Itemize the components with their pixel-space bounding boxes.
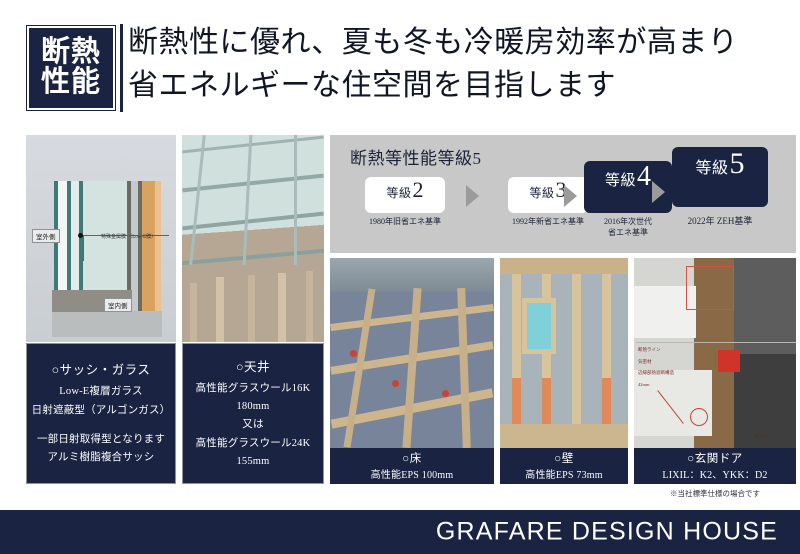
grade-box-5: 等級 5 bbox=[672, 147, 768, 207]
floor-caption-line-1: 高性能EPS 100mm bbox=[371, 468, 454, 483]
wall-caption-title: ○壁 bbox=[554, 450, 573, 466]
ceiling-caption-title: ○天井 bbox=[236, 356, 270, 375]
ceiling-caption: ○天井 高性能グラスウール16K 180mm 又は 高性能グラスウール24K 1… bbox=[182, 343, 324, 484]
ceiling-caption-line-1: 高性能グラスウール16K bbox=[196, 380, 311, 398]
wall-insulation-photo bbox=[500, 258, 628, 448]
entrance-door-detail: 断熱ライン 気密材 辺縁部熱遮断構造 42mm 断熱材 bbox=[634, 258, 796, 448]
grade-note-2: 1980年旧省エネ基準 bbox=[348, 217, 462, 228]
window-caption-title: ○サッシ・ガラス bbox=[52, 359, 151, 378]
grade-note-5: 2022年 ZEH基準 bbox=[620, 215, 800, 227]
door-annotation-2: 気密材 bbox=[638, 356, 674, 368]
door-annotation-4: 42mm bbox=[638, 379, 674, 391]
window-label-lowe-film: 特殊金属膜 （Low-E膜） bbox=[101, 235, 169, 241]
window-caption-line-2: 日射遮蔽型（アルゴンガス） bbox=[32, 402, 171, 420]
door-caption: ○玄関ドア LIXIL：K2、YKK：D2 bbox=[634, 448, 796, 484]
ceiling-caption-line-3: 又は bbox=[242, 416, 263, 434]
ceiling-insulation-photo bbox=[182, 135, 324, 342]
section-badge-line1: 断熱 bbox=[41, 38, 101, 68]
section-badge-line2: 性能 bbox=[41, 68, 101, 98]
disclaimer-note: ※当社標準仕様の場合です bbox=[634, 488, 796, 499]
ceiling-caption-line-2: 180mm bbox=[236, 398, 269, 416]
floor-insulation-photo bbox=[330, 258, 494, 448]
brand-name: GRAFARE DESIGN HOUSE bbox=[436, 518, 778, 547]
headline-line-1: 断熱性に優れ、夏も冬も冷暖房効率が高まり bbox=[128, 22, 788, 65]
headline-rule bbox=[120, 24, 123, 112]
window-caption: ○サッシ・ガラス Low-E複層ガラス 日射遮蔽型（アルゴンガス） 一部日射取得… bbox=[26, 343, 176, 484]
content-grid: 室外側 室内側 特殊金属膜 （Low-E膜） ○サッシ・ガラス Low-E複層ガ… bbox=[0, 132, 800, 508]
headline-line-2: 省エネルギーな住空間を目指します bbox=[128, 65, 788, 108]
floor-caption-title: ○床 bbox=[402, 450, 421, 466]
door-annotation-3: 辺縁部熱遮断構造 bbox=[638, 367, 674, 379]
door-annotation-list: 断熱ライン 気密材 辺縁部熱遮断構造 42mm bbox=[638, 344, 674, 391]
grade-box-5-kanji: 等級 bbox=[695, 154, 728, 178]
window-label-outdoor: 室外側 bbox=[32, 229, 60, 243]
grade-box-2-number: 2 bbox=[413, 177, 424, 203]
grade-box-5-number: 5 bbox=[730, 147, 745, 181]
grade-box-2: 等級 2 bbox=[365, 177, 445, 213]
grade-box-2-kanji: 等級 bbox=[386, 184, 411, 201]
ceiling-caption-line-4: 高性能グラスウール24K bbox=[196, 435, 311, 453]
window-caption-line-1: Low-E複層ガラス bbox=[59, 383, 142, 401]
wall-caption: ○壁 高性能EPS 73mm bbox=[500, 448, 628, 484]
window-caption-line-3: 一部日射取得型となります bbox=[37, 431, 165, 449]
grade-step-5: 等級 5 2022年 ZEH基準 bbox=[620, 147, 800, 227]
insulation-grade-chart: 断熱等性能等級5 等級 2 1980年旧省エネ基準 等級 3 1992年新省エネ… bbox=[330, 135, 796, 253]
grade-step-2: 等級 2 1980年旧省エネ基準 bbox=[348, 177, 462, 228]
page-footer: GRAFARE DESIGN HOUSE bbox=[0, 510, 800, 554]
window-caption-line-4: アルミ樹脂複合サッシ bbox=[48, 449, 155, 467]
door-caption-title: ○玄関ドア bbox=[687, 450, 742, 466]
page-header: 断熱 性能 断熱性に優れ、夏も冬も冷暖房効率が高まり 省エネルギーな住空間を目指… bbox=[0, 0, 800, 130]
door-annotation-1: 断熱ライン bbox=[638, 344, 674, 356]
wall-caption-line-1: 高性能EPS 73mm bbox=[525, 468, 603, 483]
grade-chart-title: 断熱等性能等級5 bbox=[350, 144, 482, 169]
grade-note-4-line-2: 省エネ基準 bbox=[528, 228, 728, 239]
section-badge: 断熱 性能 bbox=[27, 26, 115, 110]
door-annotation-5: 断熱材 bbox=[754, 434, 768, 440]
door-caption-line-1: LIXIL：K2、YKK：D2 bbox=[662, 468, 767, 483]
page-headline: 断熱性に優れ、夏も冬も冷暖房効率が高まり 省エネルギーな住空間を目指します bbox=[128, 22, 788, 107]
window-label-indoor: 室内側 bbox=[104, 298, 132, 312]
window-section-photo: 室外側 室内側 特殊金属膜 （Low-E膜） bbox=[26, 135, 176, 342]
floor-caption: ○床 高性能EPS 100mm bbox=[330, 448, 494, 484]
ceiling-caption-line-5: 155mm bbox=[236, 453, 269, 471]
